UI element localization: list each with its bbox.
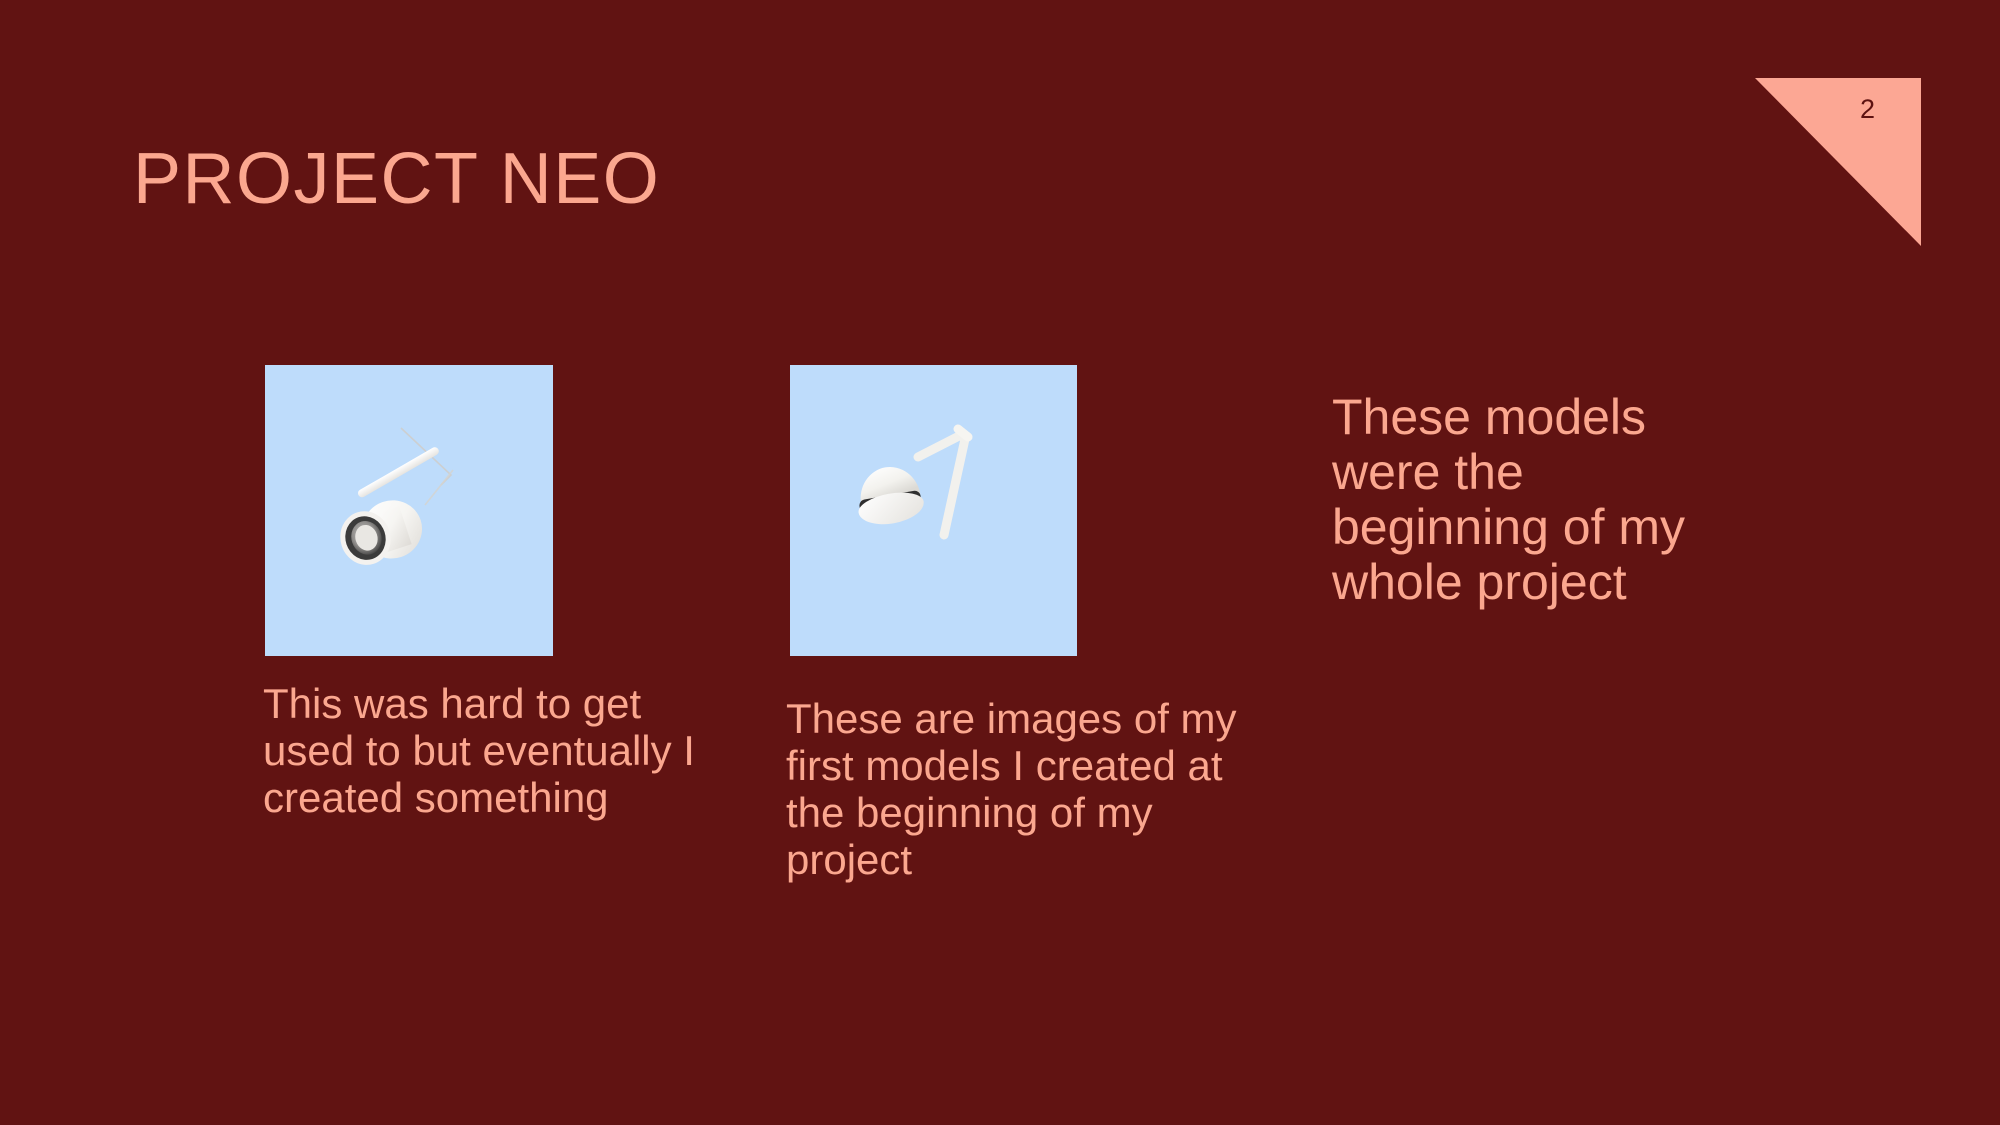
page-title: PROJECT NEO — [133, 140, 660, 219]
second-model-illustration — [790, 365, 1077, 656]
caption-second-image: These are images of my first models I cr… — [786, 695, 1246, 883]
caption-first-image: This was hard to get used to but eventua… — [263, 680, 743, 821]
page-number-corner-flag: 2 — [1755, 78, 1921, 246]
first-model-render[interactable] — [265, 365, 553, 656]
second-model-render[interactable] — [790, 365, 1077, 656]
sidenote-text: These models were the beginning of my wh… — [1332, 390, 1692, 610]
triangle-shape — [1755, 78, 1921, 246]
page-number: 2 — [1860, 96, 1875, 123]
slide: 2 PROJECT NEO — [0, 0, 2000, 1125]
first-model-illustration — [265, 365, 553, 656]
